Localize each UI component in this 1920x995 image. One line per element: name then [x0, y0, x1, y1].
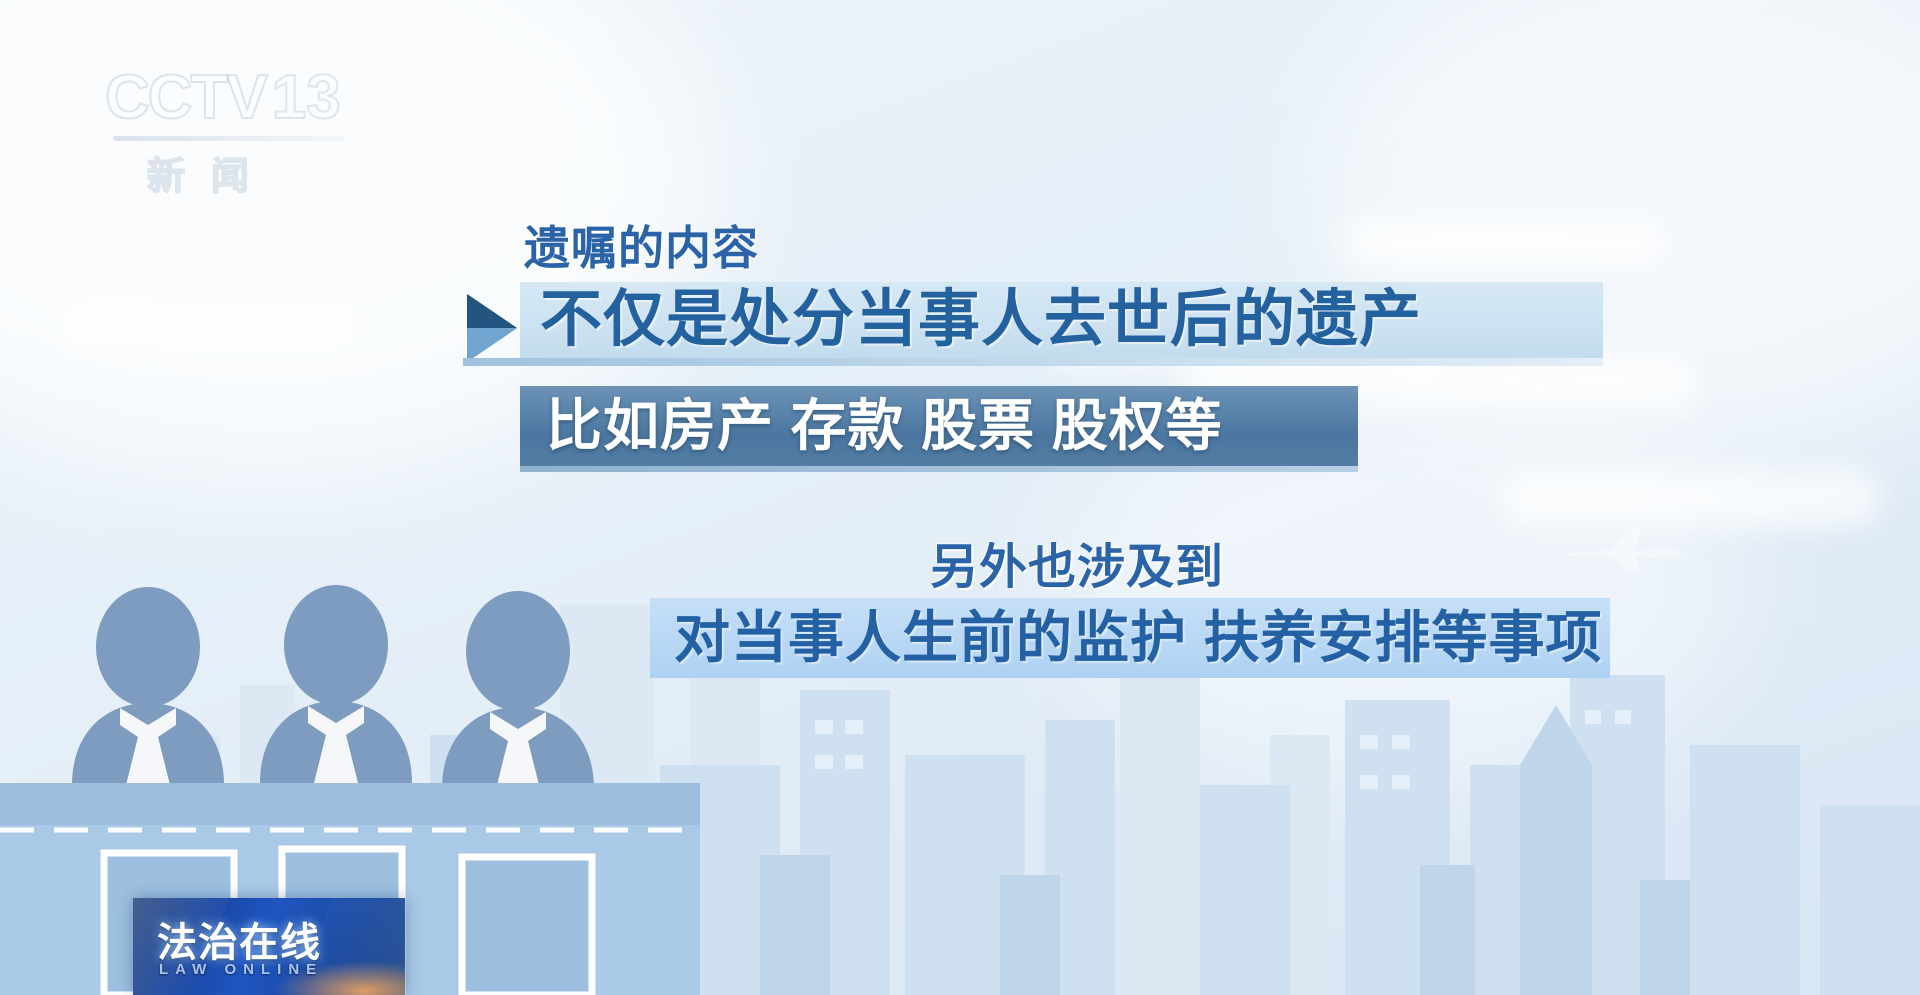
program-name-en: LAW ONLINE: [159, 961, 323, 978]
program-bug-law-online: 法治在线 LAW ONLINE: [133, 898, 405, 995]
caption-kicker-two: 另外也涉及到: [930, 527, 1224, 597]
caption-subline-underline: [520, 466, 1358, 472]
caption-subline-text: 比如房产 存款 股票 股权等: [546, 390, 1223, 462]
caption-subline-bar: 比如房产 存款 股票 股权等: [520, 386, 1358, 466]
program-name-cn: 法治在线: [157, 910, 321, 968]
caption-lowline-bar: 对当事人生前的监护 扶养安排等事项: [650, 598, 1610, 678]
caption-headline-bar: 不仅是处分当事人去世后的遗产: [520, 282, 1603, 358]
caption-kicker-one: 遗嘱的内容: [524, 212, 759, 278]
play-arrow-icon: [463, 290, 521, 366]
caption-headline-underline: [463, 358, 1603, 366]
caption-headline-text: 不仅是处分当事人去世后的遗产: [540, 284, 1422, 356]
broadcast-frame: CCTV 13 新闻 遗嘱的内容 不仅是处分当事人去世后的遗产 比如房产 存款 …: [0, 0, 1920, 995]
lower-third-captions: 遗嘱的内容 不仅是处分当事人去世后的遗产 比如房产 存款 股票 股权等 另外也涉…: [0, 0, 1920, 995]
caption-lowline-text: 对当事人生前的监护 扶养安排等事项: [674, 601, 1603, 675]
